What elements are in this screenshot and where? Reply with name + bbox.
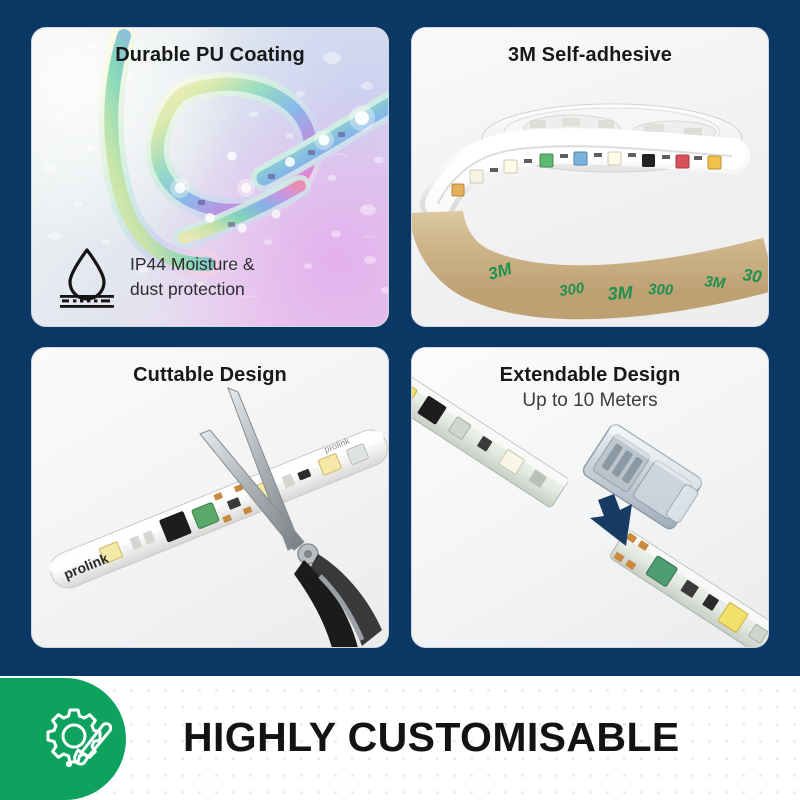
card-cuttable-design[interactable]: prolink prolink Cu — [31, 347, 389, 648]
ip44-icon-svg — [58, 246, 116, 308]
svg-text:3M: 3M — [607, 282, 634, 304]
card-title: 3M Self-adhesive — [412, 44, 768, 67]
card-title: Extendable Design — [412, 364, 768, 387]
card-subtitle: Up to 10 Meters — [412, 390, 768, 412]
adhesive-reel-svg: 3M 300 3M 300 3M 30 — [412, 28, 769, 327]
cuttable-scissors-svg: prolink prolink — [32, 348, 389, 648]
ip44-text: IP44 Moisture & dust protection — [130, 252, 255, 302]
svg-text:3M: 3M — [704, 273, 727, 292]
card-title: Cuttable Design — [32, 364, 388, 387]
ip44-badge: IP44 Moisture & dust protection — [58, 246, 255, 308]
card-title: Durable PU Coating — [32, 44, 388, 67]
svg-text:300: 300 — [648, 281, 674, 299]
card-durable-pu-coating[interactable]: Durable PU Coating IP44 — [31, 27, 389, 327]
bottom-banner: HIGHLY CUSTOMISABLE — [0, 676, 800, 800]
water-drop-dust-icon — [58, 246, 116, 308]
ip44-line-1: IP44 Moisture & — [130, 252, 255, 277]
card-3m-self-adhesive[interactable]: 3M 300 3M 300 3M 30 3M Self-adhesive — [411, 27, 769, 327]
gear-screwdriver-svg — [40, 700, 116, 776]
ip44-line-2: dust protection — [130, 277, 255, 302]
card-extendable-design[interactable]: Extendable Design Up to 10 Meters — [411, 347, 769, 648]
gear-screwdriver-icon — [40, 700, 116, 776]
infographic-page: Durable PU Coating IP44 — [0, 0, 800, 800]
svg-text:30: 30 — [741, 265, 763, 287]
banner-headline: HIGHLY CUSTOMISABLE — [183, 714, 680, 761]
feature-card-grid: Durable PU Coating IP44 — [31, 27, 769, 648]
svg-text:300: 300 — [558, 280, 586, 300]
